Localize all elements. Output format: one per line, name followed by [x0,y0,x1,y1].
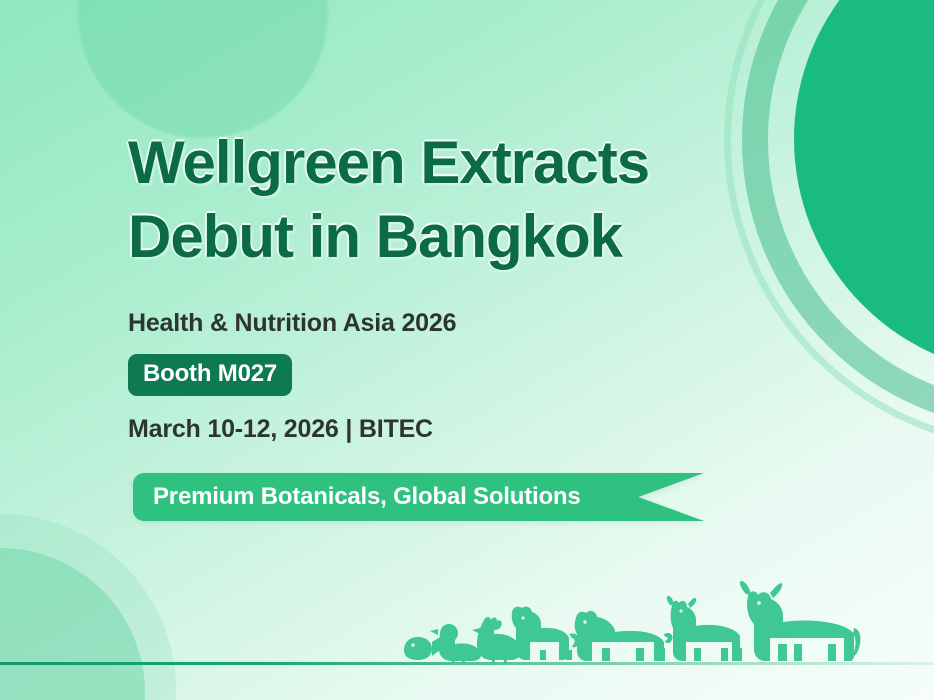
date-venue-text: March 10-12, 2026 | BITEC [128,414,748,444]
event-promo-banner: Wellgreen Extracts Debut in Bangkok Heal… [0,0,934,700]
page-title: Wellgreen Extracts Debut in Bangkok [128,126,748,274]
animal-silhouette-row [396,572,876,664]
banner-content: Wellgreen Extracts Debut in Bangkok Heal… [128,126,748,444]
event-name: Health & Nutrition Asia 2026 [128,308,748,338]
top-left-blob-shape [78,0,328,138]
tagline-ribbon-shape: Premium Botanicals, Global Solutions [133,473,704,521]
cow-icon [740,581,860,661]
pig-icon [575,611,673,661]
tagline-ribbon: Premium Botanicals, Global Solutions [133,473,704,521]
fish-icon [404,636,442,660]
dog-icon [512,607,579,660]
goat-icon [667,596,742,661]
booth-badge: Booth M027 [128,354,292,396]
tagline-text: Premium Botanicals, Global Solutions [133,483,581,511]
